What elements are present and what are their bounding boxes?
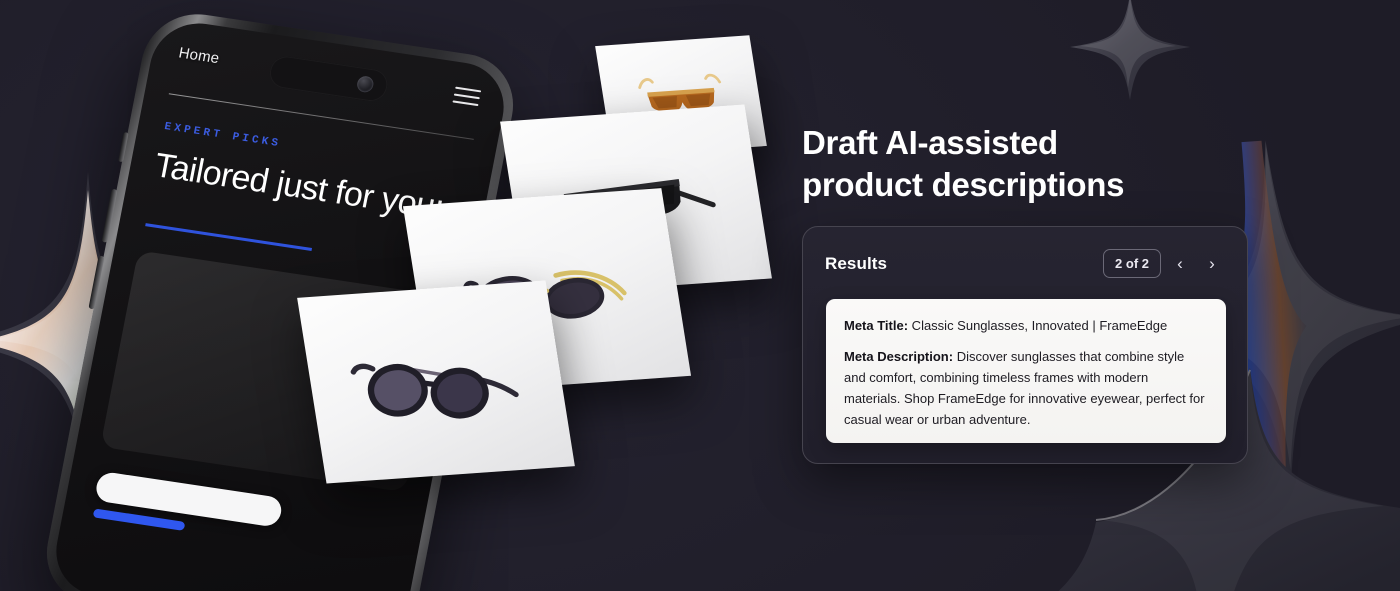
results-pager: 2 of 2 ‹ › bbox=[1103, 249, 1225, 278]
meta-title-value: Classic Sunglasses, Innovated | FrameEdg… bbox=[908, 318, 1167, 333]
results-header: Results 2 of 2 ‹ › bbox=[803, 227, 1247, 278]
results-title: Results bbox=[825, 254, 887, 274]
hero-copy: Draft AI-assisted product descriptions bbox=[802, 122, 1254, 206]
phone-volume-up-button bbox=[101, 189, 117, 243]
sparkle-star-dark-top-right bbox=[1068, 0, 1192, 102]
phone-mute-switch bbox=[118, 132, 129, 162]
meta-description-line: Meta Description: Discover sunglasses th… bbox=[844, 346, 1208, 430]
headline-underline bbox=[145, 223, 312, 251]
meta-description-key: Meta Description: bbox=[844, 349, 953, 364]
phone-eyebrow-label: EXPERT PICKS bbox=[163, 121, 282, 150]
hero-banner: Home EXPERT PICKS Tailored just for you: bbox=[0, 0, 1400, 591]
next-result-button[interactable]: › bbox=[1199, 251, 1225, 277]
page-title: Draft AI-assisted product descriptions bbox=[802, 122, 1254, 206]
previous-result-button[interactable]: ‹ bbox=[1167, 251, 1193, 277]
results-output-panel[interactable]: Meta Title: Classic Sunglasses, Innovate… bbox=[826, 299, 1226, 443]
round-sunglasses-icon bbox=[337, 318, 534, 446]
results-card: Results 2 of 2 ‹ › Meta Title: Classic S… bbox=[802, 226, 1248, 464]
phone-volume-down-button bbox=[88, 256, 104, 310]
nav-home-link[interactable]: Home bbox=[177, 45, 221, 68]
product-card-round-sunglasses[interactable] bbox=[297, 280, 575, 483]
pager-count: 2 of 2 bbox=[1103, 249, 1161, 278]
hamburger-icon[interactable] bbox=[453, 86, 482, 106]
meta-title-line: Meta Title: Classic Sunglasses, Innovate… bbox=[844, 315, 1208, 336]
meta-title-key: Meta Title: bbox=[844, 318, 908, 333]
